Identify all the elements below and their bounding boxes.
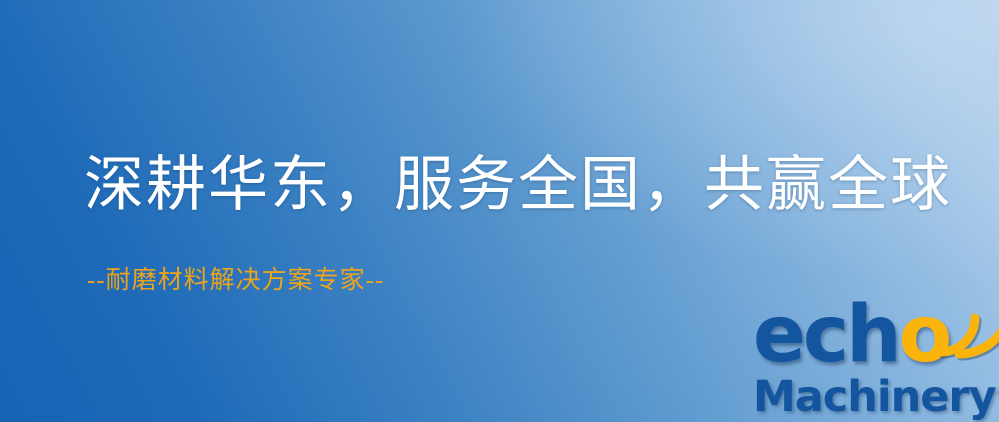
banner-subheadline: --耐磨材料解决方案专家-- <box>87 266 384 296</box>
logo-wordmark-prefix: ech <box>753 290 899 380</box>
banner-headline: 深耕华东，服务全国，共赢全球 <box>84 153 952 218</box>
echo-machinery-logo[interactable]: echo Machinery® <box>745 296 999 422</box>
logo-subword: Machinery® <box>753 372 999 420</box>
hero-banner: 深耕华东，服务全国，共赢全球 --耐磨材料解决方案专家-- echo Machi… <box>0 0 999 422</box>
logo-subword-text: Machinery <box>753 372 996 422</box>
signal-waves-icon <box>915 292 999 362</box>
